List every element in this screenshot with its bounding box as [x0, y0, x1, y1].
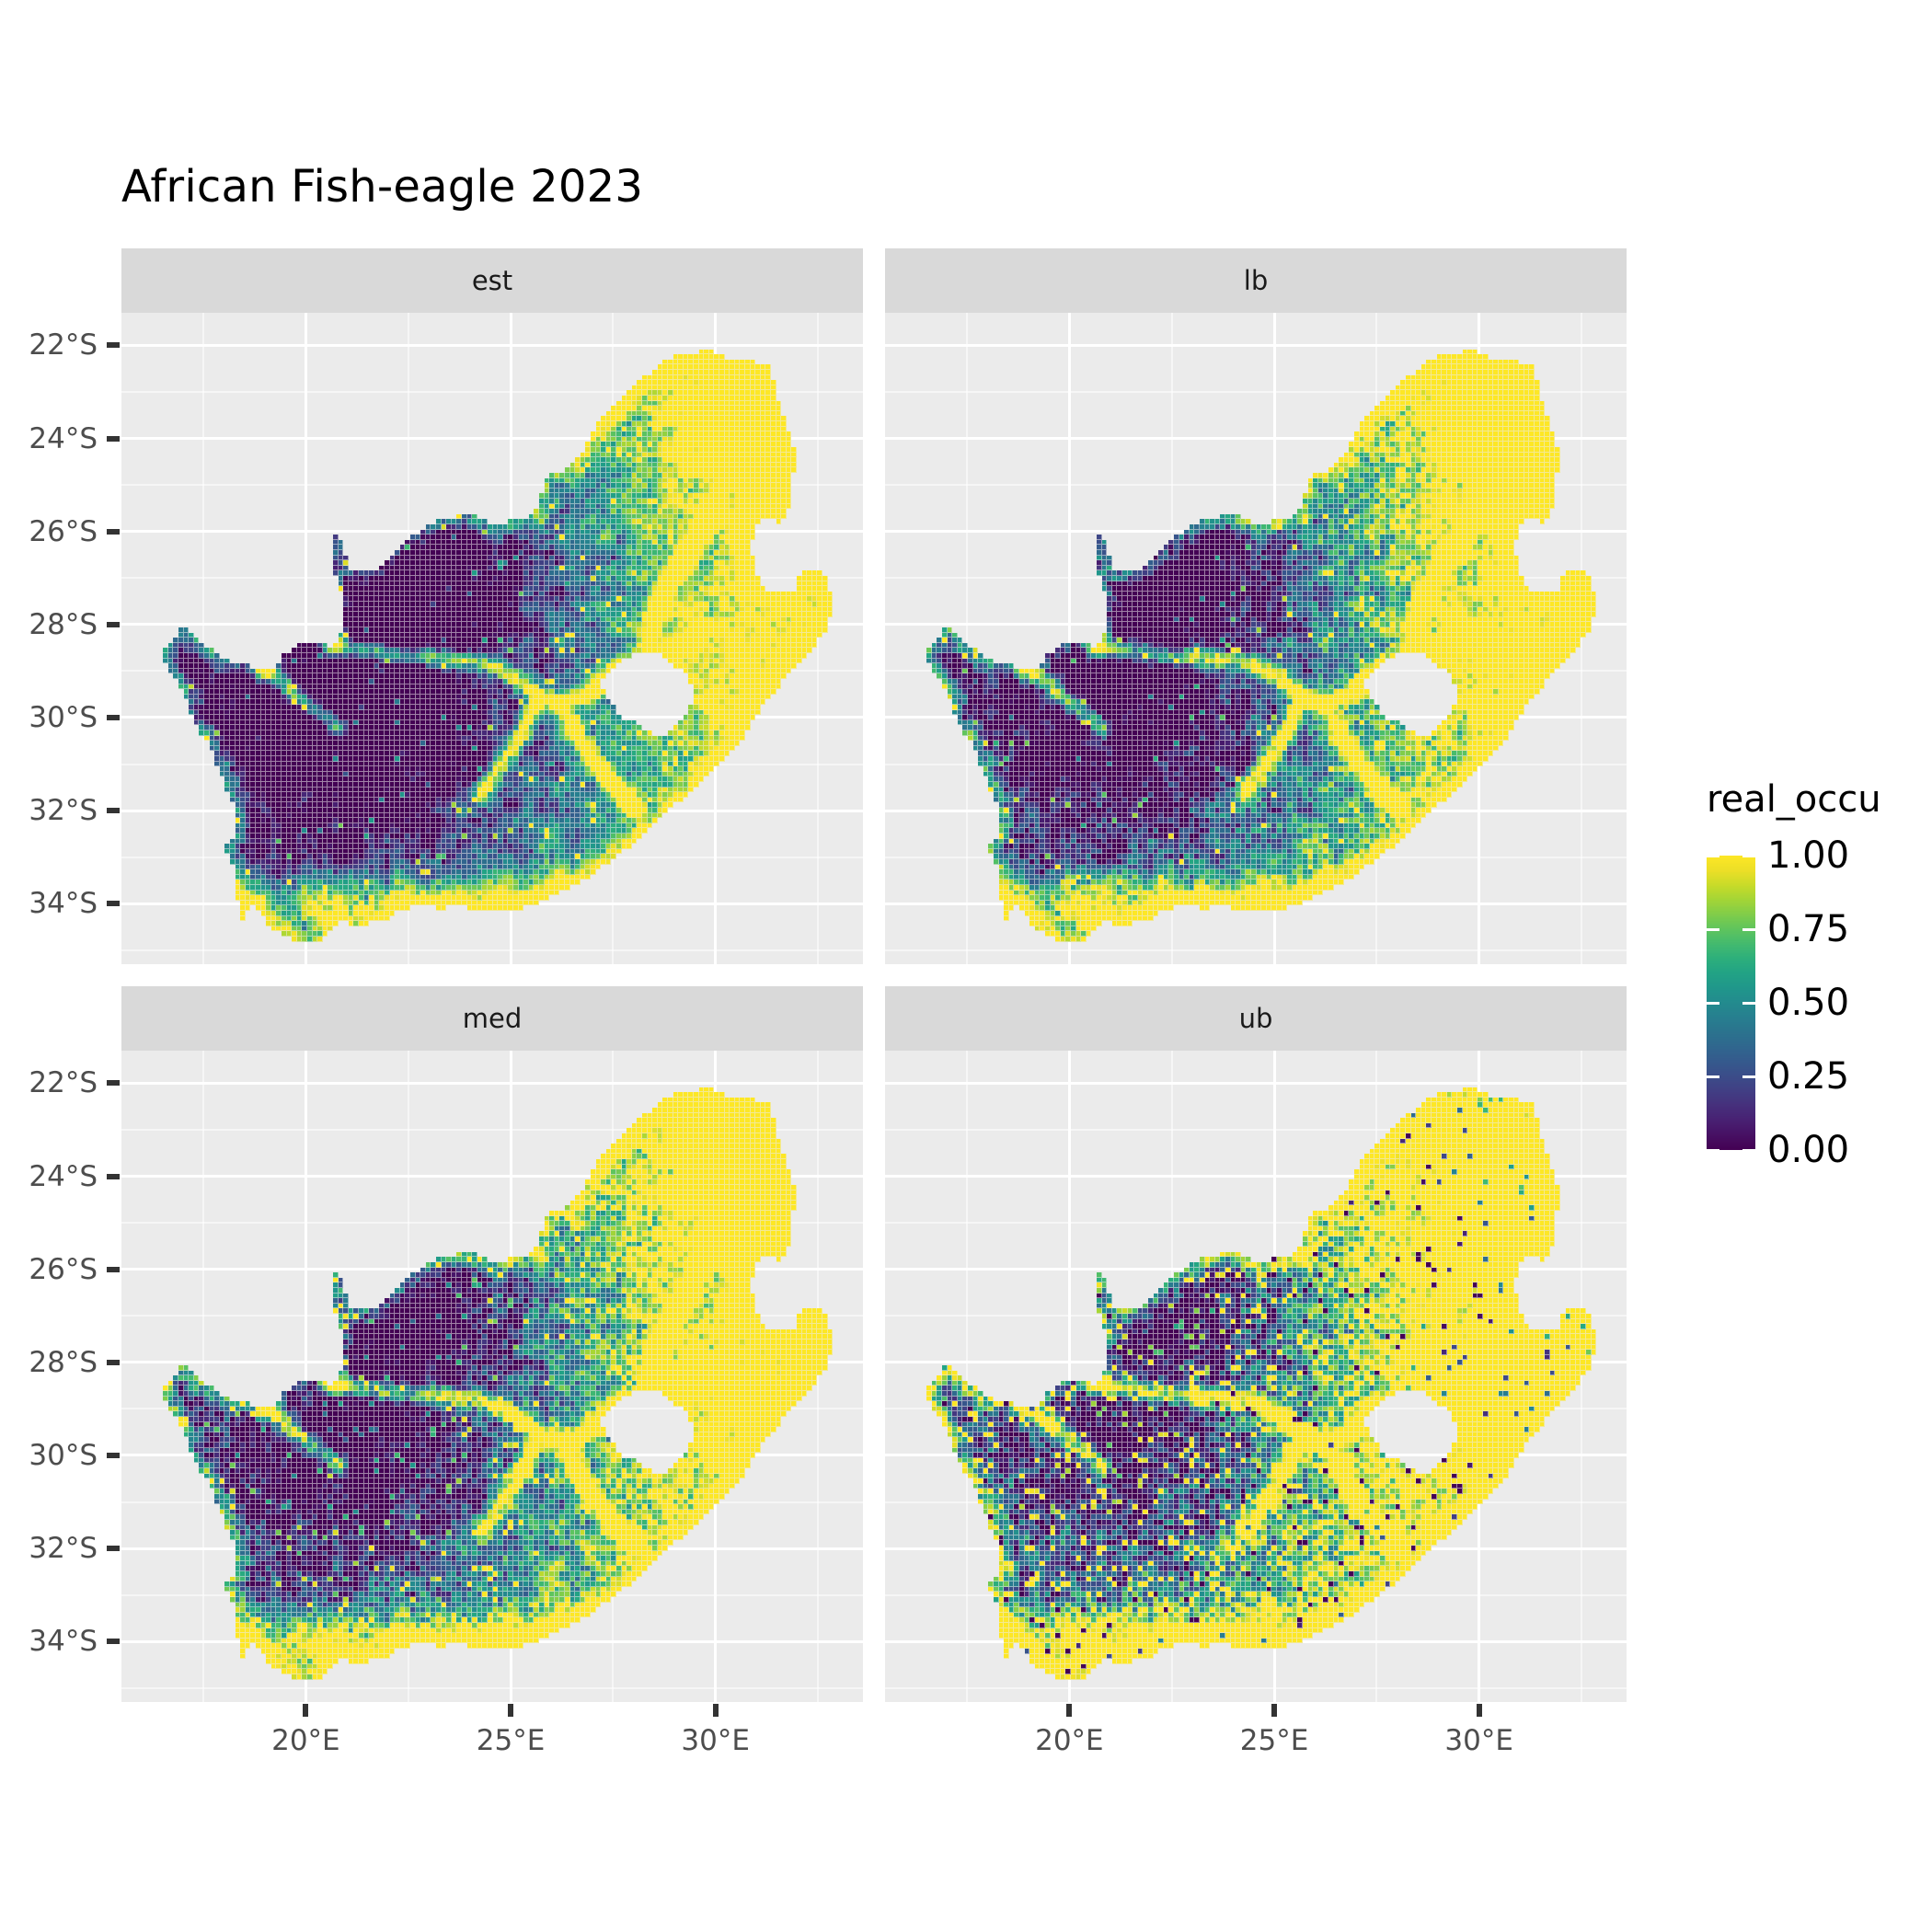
facet-strip-med: med — [121, 986, 863, 1051]
map-panel-med — [121, 1051, 863, 1702]
legend-tick-mark — [1707, 855, 1755, 857]
map-panel-est — [121, 313, 863, 964]
occupancy-raster — [885, 1051, 1627, 1702]
y-axis-tick-mark — [107, 1174, 120, 1179]
y-axis-tick-mark — [107, 436, 120, 442]
x-axis-tick-mark — [303, 1704, 308, 1717]
facet-strip-label: ub — [1239, 1003, 1273, 1034]
page-title: African Fish-eagle 2023 — [121, 161, 643, 213]
y-axis-tick-mark — [107, 901, 120, 906]
x-axis-tick-label: 20°E — [1035, 1724, 1104, 1757]
x-axis-tick-mark — [508, 1704, 513, 1717]
facet-strip-lb: lb — [885, 248, 1627, 313]
y-axis-tick-mark — [107, 1080, 120, 1086]
y-axis-tick-label: 22°S — [0, 1066, 98, 1099]
facet-strip-label: lb — [1244, 265, 1268, 296]
occupancy-raster — [885, 313, 1627, 964]
y-axis-tick-label: 26°S — [0, 515, 98, 548]
x-axis-tick-label: 30°E — [1444, 1724, 1513, 1757]
y-axis-tick-mark — [107, 622, 120, 627]
y-axis-tick-mark — [107, 529, 120, 535]
y-axis-tick-label: 28°S — [0, 608, 98, 641]
y-axis-tick-mark — [107, 342, 120, 348]
x-axis-tick-label: 20°E — [271, 1724, 340, 1757]
y-axis-tick-label: 30°S — [0, 701, 98, 734]
map-panel-lb — [885, 313, 1627, 964]
legend-tick-label: 0.50 — [1767, 982, 1849, 1024]
occupancy-raster — [121, 1051, 863, 1702]
y-axis-tick-label: 24°S — [0, 422, 98, 455]
x-axis-tick-mark — [713, 1704, 719, 1717]
legend-tick-mark — [1707, 1002, 1755, 1005]
y-axis-tick-mark — [107, 1453, 120, 1458]
y-axis-tick-label: 30°S — [0, 1439, 98, 1472]
y-axis-tick-mark — [107, 1546, 120, 1551]
x-axis-tick-label: 25°E — [1240, 1724, 1309, 1757]
y-axis-tick-mark — [107, 715, 120, 720]
x-axis-tick-mark — [1271, 1704, 1277, 1717]
y-axis-tick-label: 28°S — [0, 1346, 98, 1379]
x-axis-tick-mark — [1477, 1704, 1482, 1717]
facet-strip-label: est — [472, 265, 512, 296]
legend-title: real_occu — [1707, 778, 1881, 821]
y-axis-tick-label: 34°S — [0, 1625, 98, 1658]
legend-tick-mark — [1707, 928, 1755, 931]
y-axis-tick-label: 34°S — [0, 887, 98, 920]
map-panel-ub — [885, 1051, 1627, 1702]
legend-tick-label: 0.75 — [1767, 908, 1849, 950]
y-axis-tick-mark — [107, 1639, 120, 1644]
x-axis-tick-mark — [1066, 1704, 1072, 1717]
facet-strip-label: med — [463, 1003, 523, 1034]
y-axis-tick-label: 26°S — [0, 1253, 98, 1286]
facet-strip-est: est — [121, 248, 863, 313]
y-axis-tick-mark — [107, 808, 120, 813]
occupancy-raster — [121, 313, 863, 964]
x-axis-tick-label: 25°E — [477, 1724, 546, 1757]
legend-tick-label: 1.00 — [1767, 834, 1849, 877]
y-axis-tick-label: 32°S — [0, 1532, 98, 1565]
y-axis-tick-mark — [107, 1360, 120, 1365]
y-axis-tick-label: 24°S — [0, 1160, 98, 1193]
y-axis-tick-label: 32°S — [0, 794, 98, 827]
figure-root: African Fish-eagle 2023 est lb med ub 22… — [0, 0, 1932, 1932]
x-axis-tick-label: 30°E — [681, 1724, 750, 1757]
legend-tick-mark — [1707, 1075, 1755, 1078]
legend-tick-mark — [1707, 1149, 1755, 1152]
y-axis-tick-mark — [107, 1267, 120, 1272]
legend-tick-label: 0.25 — [1767, 1055, 1849, 1098]
facet-strip-ub: ub — [885, 986, 1627, 1051]
y-axis-tick-label: 22°S — [0, 328, 98, 362]
legend-tick-label: 0.00 — [1767, 1129, 1849, 1171]
